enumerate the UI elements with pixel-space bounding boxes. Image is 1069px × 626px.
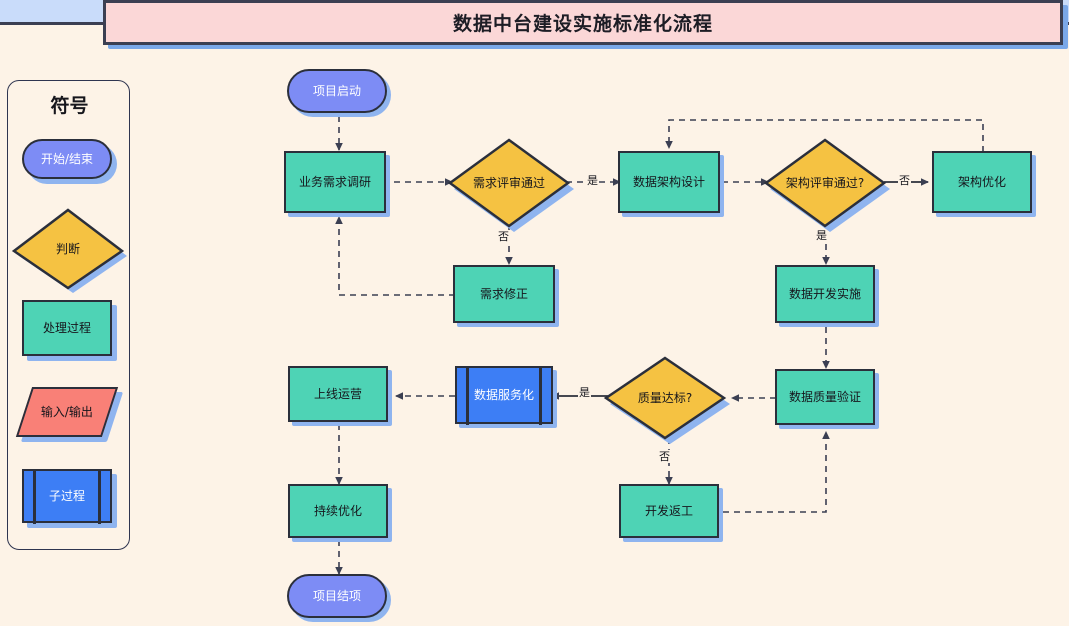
legend-symbol-io: 输入/输出 xyxy=(16,387,118,437)
node-qa-gate-label: 质量达标? xyxy=(606,358,724,438)
node-project-closure[interactable]: 项目结项 xyxy=(287,574,387,618)
edge-label-req-yes: 是 xyxy=(586,174,599,187)
node-end-label: 项目结项 xyxy=(313,589,361,604)
node-business-requirement-survey[interactable]: 业务需求调研 xyxy=(284,151,386,213)
node-req-fix-label: 需求修正 xyxy=(480,287,528,302)
node-cont-opt-label: 持续优化 xyxy=(314,504,362,519)
node-qa-verify-label: 数据质量验证 xyxy=(789,390,861,405)
edge-label-qa-no: 否 xyxy=(658,450,671,463)
legend-symbol-terminal: 开始/结束 xyxy=(22,139,112,179)
node-arch-design-label: 数据架构设计 xyxy=(633,175,705,190)
node-req-review-label: 需求评审通过 xyxy=(450,140,568,226)
edge-label-arch-no: 否 xyxy=(898,174,911,187)
node-data-quality-verification[interactable]: 数据质量验证 xyxy=(775,369,875,425)
flowchart-canvas: 数据中台建设实施标准化流程 符号 开始/结束 判断 处理过程 输入/输出 子过程 xyxy=(0,0,1069,626)
legend-symbol-decision: 判断 xyxy=(14,210,122,288)
node-requirement-review-gate[interactable]: 需求评审通过 xyxy=(450,140,568,226)
node-continuous-optimization[interactable]: 持续优化 xyxy=(288,484,388,538)
page-title: 数据中台建设实施标准化流程 xyxy=(103,0,1063,45)
node-arch-opt-label: 架构优化 xyxy=(958,175,1006,190)
edge-label-qa-yes: 是 xyxy=(578,386,591,399)
legend-label-io: 输入/输出 xyxy=(41,405,93,420)
node-project-start[interactable]: 项目启动 xyxy=(287,69,387,113)
node-requirement-revision[interactable]: 需求修正 xyxy=(453,265,555,323)
node-data-service-label: 数据服务化 xyxy=(474,388,534,403)
node-data-development-implementation[interactable]: 数据开发实施 xyxy=(775,265,875,323)
node-dev-impl-label: 数据开发实施 xyxy=(789,287,861,302)
node-development-rework[interactable]: 开发返工 xyxy=(619,484,719,538)
node-architecture-review-gate[interactable]: 架构评审通过? xyxy=(766,140,884,226)
node-arch-review-label: 架构评审通过? xyxy=(766,140,884,226)
node-go-live-operation[interactable]: 上线运营 xyxy=(288,366,388,422)
node-go-live-label: 上线运营 xyxy=(314,387,362,402)
legend-symbol-subprocess: 子过程 xyxy=(22,469,112,523)
node-dev-rework-label: 开发返工 xyxy=(645,504,693,519)
legend-label-subprocess: 子过程 xyxy=(49,489,85,504)
legend-symbol-process: 处理过程 xyxy=(22,300,112,356)
node-data-servitization[interactable]: 数据服务化 xyxy=(455,366,553,424)
node-req-survey-label: 业务需求调研 xyxy=(299,175,371,190)
page-title-text: 数据中台建设实施标准化流程 xyxy=(453,9,713,36)
node-data-architecture-design[interactable]: 数据架构设计 xyxy=(618,151,720,213)
node-architecture-optimization[interactable]: 架构优化 xyxy=(932,151,1032,213)
legend-label-decision: 判断 xyxy=(14,210,122,288)
legend-label-process: 处理过程 xyxy=(43,321,91,336)
legend-title: 符号 xyxy=(8,91,131,118)
node-quality-gate[interactable]: 质量达标? xyxy=(606,358,724,438)
node-start-label: 项目启动 xyxy=(313,84,361,99)
legend-label-terminal: 开始/结束 xyxy=(41,152,93,167)
